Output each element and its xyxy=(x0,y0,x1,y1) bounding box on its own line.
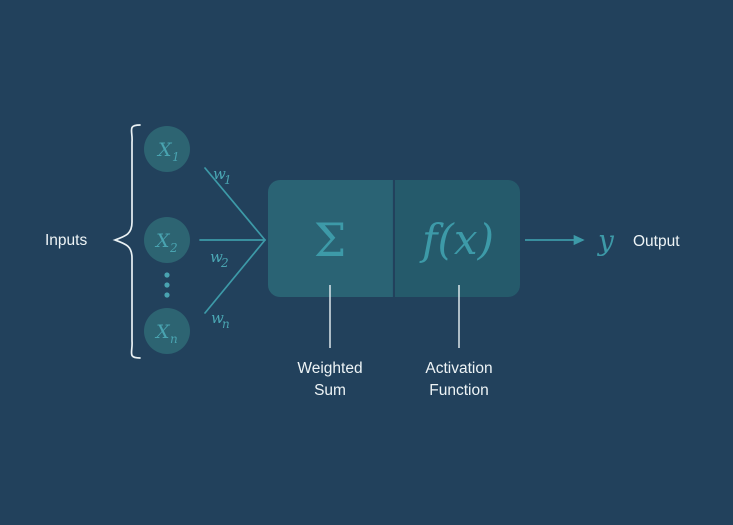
activation-function-symbol: f(x) xyxy=(419,215,494,264)
input-node-x1-subscript: 1 xyxy=(172,150,180,164)
weight-label-wn-subscript: n xyxy=(222,317,230,331)
weight-label-w2-subscript: 2 xyxy=(220,256,229,270)
weighted-sum-caption-line1: Weighted xyxy=(297,360,362,377)
input-node-xn-subscript: n xyxy=(170,332,178,346)
activation-function-caption-line2: Function xyxy=(429,382,488,399)
input-ellipsis-icon xyxy=(164,272,169,297)
input-node-xn-label: X xyxy=(154,321,171,343)
weight-label-w1-subscript: 1 xyxy=(224,173,232,187)
input-node-x2-subscript: 2 xyxy=(169,241,178,255)
weighted-sum-caption-line2: Sum xyxy=(314,382,346,399)
output-label: Output xyxy=(633,233,680,250)
output-symbol: y xyxy=(596,224,615,257)
activation-function-caption-line1: Activation xyxy=(425,360,492,377)
weighted-sum-symbol: Σ xyxy=(314,213,347,267)
input-node-x1-label: X xyxy=(156,139,173,161)
diagram-canvas: Inputs X 1 X 2 X n w 1 w 2 w n xyxy=(0,0,733,525)
input-node-x2-label: X xyxy=(154,230,171,252)
neural-neuron-diagram: Inputs X 1 X 2 X n w 1 w 2 w n xyxy=(0,0,733,525)
inputs-label: Inputs xyxy=(45,232,87,249)
inputs-brace xyxy=(115,125,140,358)
